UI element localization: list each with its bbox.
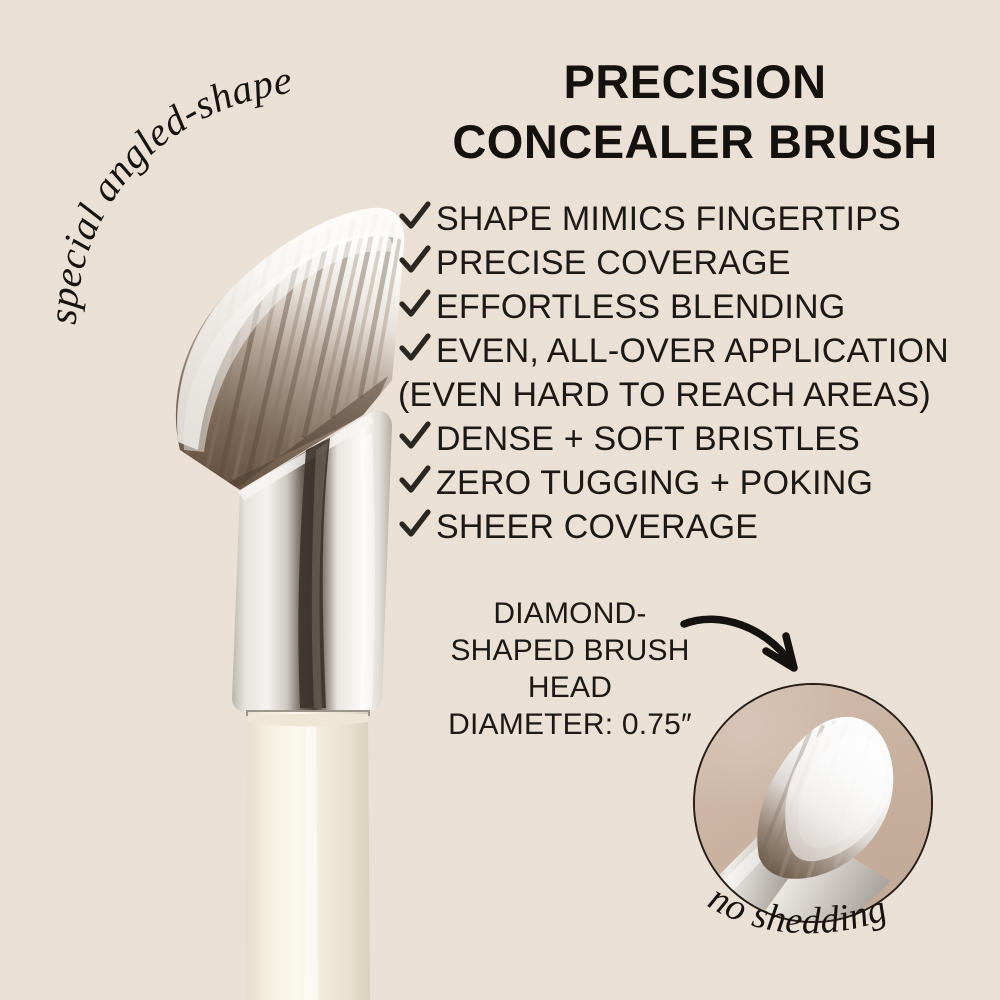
- feature-item: ZERO TUGGING + POKING: [398, 462, 998, 506]
- feature-label: ZERO TUGGING + POKING: [436, 462, 873, 504]
- feature-list: SHAPE MIMICS FINGERTIPS PRECISE COVERAGE…: [398, 198, 998, 550]
- check-icon: [398, 331, 436, 371]
- arc-label-angled-shape: special angled-shape: [30, 60, 430, 360]
- curved-arrow-icon: [680, 596, 830, 696]
- feature-label: SHEER COVERAGE: [436, 506, 758, 548]
- callout-line-4: DIAMETER: 0.75″: [425, 706, 715, 743]
- feature-item: SHAPE MIMICS FINGERTIPS: [398, 198, 998, 242]
- product-infographic: special angled-shape PRECISION CONCEALER…: [0, 0, 1000, 1000]
- feature-item: EVEN, ALL-OVER APPLICATION: [398, 330, 998, 374]
- check-icon: [398, 463, 436, 503]
- arc-label-no-shedding: no shedding: [660, 855, 970, 985]
- check-icon: [398, 243, 436, 283]
- feature-item: SHEER COVERAGE: [398, 506, 998, 550]
- svg-text:no shedding: no shedding: [702, 877, 893, 943]
- callout-line-1: DIAMOND-: [425, 595, 715, 632]
- page-title: PRECISION CONCEALER BRUSH: [400, 52, 990, 172]
- check-icon: [398, 507, 436, 547]
- brush-handle: [246, 712, 370, 1000]
- feature-label: (EVEN HARD TO REACH AREAS): [398, 374, 931, 416]
- title-line-2: CONCEALER BRUSH: [400, 112, 990, 172]
- check-icon: [398, 419, 436, 459]
- feature-item-continuation: (EVEN HARD TO REACH AREAS): [398, 374, 998, 418]
- feature-item: PRECISE COVERAGE: [398, 242, 998, 286]
- feature-label: EFFORTLESS BLENDING: [436, 286, 845, 328]
- feature-item: DENSE + SOFT BRISTLES: [398, 418, 998, 462]
- feature-item: EFFORTLESS BLENDING: [398, 286, 998, 330]
- arc-bottom-text: no shedding: [702, 877, 893, 943]
- svg-text:special angled-shape: special angled-shape: [40, 60, 295, 325]
- check-icon: [398, 199, 436, 239]
- callout-line-2: SHAPED BRUSH: [425, 632, 715, 669]
- feature-label: SHAPE MIMICS FINGERTIPS: [436, 198, 901, 240]
- check-icon: [398, 287, 436, 327]
- feature-label: DENSE + SOFT BRISTLES: [436, 418, 860, 460]
- title-line-1: PRECISION: [400, 52, 990, 112]
- feature-label: EVEN, ALL-OVER APPLICATION: [436, 330, 949, 372]
- arc-top-text: special angled-shape: [40, 60, 295, 325]
- callout-line-3: HEAD: [425, 669, 715, 706]
- feature-label: PRECISE COVERAGE: [436, 242, 791, 284]
- brush-head-callout: DIAMOND- SHAPED BRUSH HEAD DIAMETER: 0.7…: [425, 595, 715, 743]
